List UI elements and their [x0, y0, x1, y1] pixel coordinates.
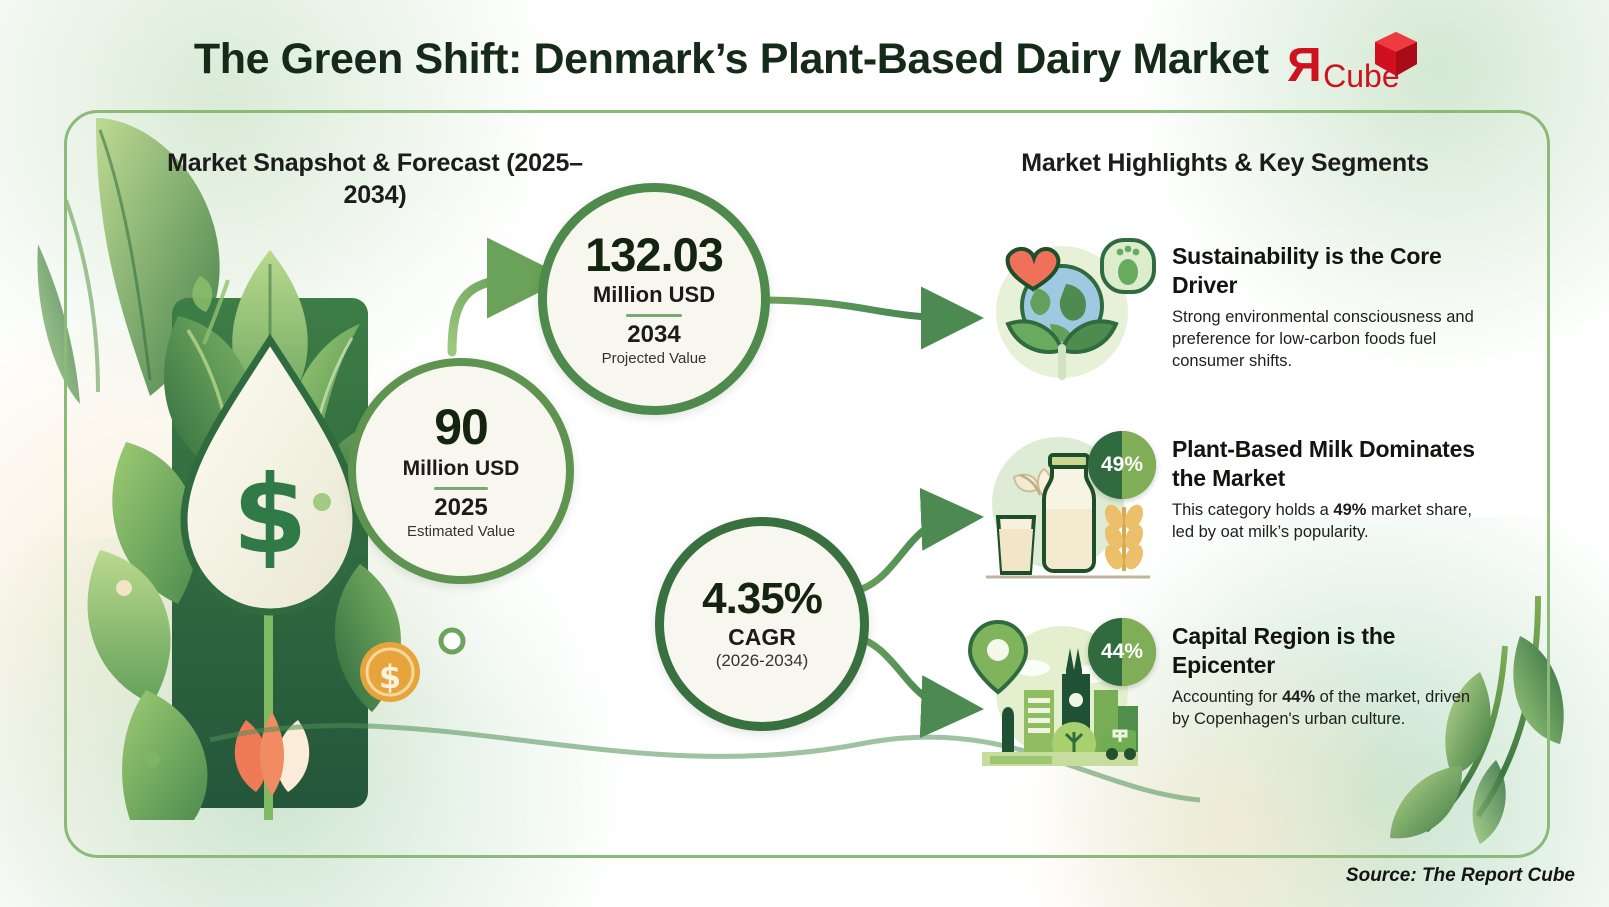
left-section-heading: Market Snapshot & Forecast (2025–2034) [150, 148, 600, 211]
percentage-badge: 49% [1088, 431, 1156, 499]
highlight-text: Sustainability is the Core Driver Strong… [1172, 232, 1484, 373]
highlight-icon [962, 232, 1158, 392]
highlight-row[interactable]: Sustainability is the Core Driver Strong… [962, 232, 1484, 392]
stat-unit: CAGR [728, 625, 796, 650]
highlight-icon: 49% [962, 425, 1158, 585]
stat-value: 4.35% [702, 577, 822, 621]
infographic-canvas: The Green Shift: Denmark’s Plant-Based D… [0, 0, 1609, 907]
brand-logo[interactable]: R Cube [1287, 34, 1415, 92]
logo-mirrored-r: R [1287, 42, 1322, 90]
highlight-title: Sustainability is the Core Driver [1172, 242, 1484, 299]
badge-value: 44% [1101, 640, 1143, 664]
stat-caption: (2026-2034) [716, 651, 809, 671]
highlight-text: Capital Region is the Epicenter Accounti… [1172, 612, 1484, 731]
stat-caption: Projected Value [602, 350, 707, 367]
stat-bubble-2025[interactable]: 90 Million USD 2025 Estimated Value [348, 358, 574, 584]
svg-text:$: $ [232, 453, 307, 578]
highlight-body: Strong environmental consciousness and p… [1172, 307, 1484, 373]
stat-year: 2034 [627, 322, 680, 348]
divider [434, 487, 488, 490]
stat-value: 90 [434, 402, 488, 452]
right-section-heading: Market Highlights & Key Segments [960, 148, 1490, 180]
highlight-text: Plant-Based Milk Dominates the Market Th… [1172, 425, 1484, 544]
stat-year: 2025 [434, 495, 487, 521]
red-cube-icon [1373, 30, 1419, 80]
highlight-title: Plant-Based Milk Dominates the Market [1172, 435, 1484, 492]
stat-value: 132.03 [585, 231, 723, 278]
highlight-title: Capital Region is the Epicenter [1172, 622, 1484, 679]
badge-value: 49% [1101, 453, 1143, 477]
header: The Green Shift: Denmark’s Plant-Based D… [0, 30, 1609, 88]
stat-bubble-cagr[interactable]: 4.35% CAGR (2026-2034) [655, 517, 869, 731]
highlight-body: Accounting for 44% of the market, driven… [1172, 687, 1484, 731]
earth-leaves-heart-footprint-icon [962, 232, 1158, 392]
source-label: Source: The Report Cube [1346, 865, 1575, 887]
highlight-row[interactable]: 49% Plant-Based Milk Dominates the Marke… [962, 425, 1484, 585]
stat-unit: Million USD [403, 457, 520, 480]
highlight-row[interactable]: 44% Capital Region is the Epicenter Acco… [962, 612, 1484, 772]
percentage-badge: 44% [1088, 618, 1156, 686]
divider [626, 314, 682, 317]
page-title: The Green Shift: Denmark’s Plant-Based D… [194, 35, 1269, 84]
svg-text:$: $ [379, 658, 401, 696]
stat-caption: Estimated Value [407, 523, 515, 540]
highlight-body: This category holds a 49% market share, … [1172, 500, 1484, 544]
stat-unit: Million USD [593, 283, 715, 307]
highlight-icon: 44% [962, 612, 1158, 772]
stat-bubble-2034[interactable]: 132.03 Million USD 2034 Projected Value [538, 183, 770, 415]
